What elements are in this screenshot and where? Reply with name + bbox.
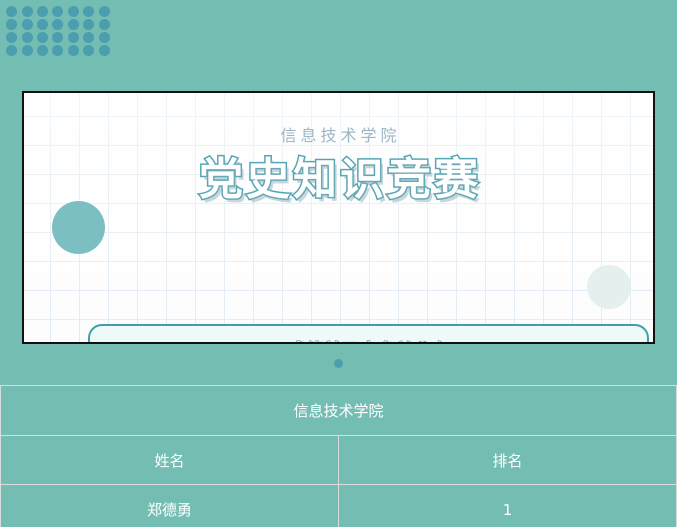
circle-decoration-right — [587, 265, 631, 309]
pager-dot-active[interactable] — [334, 359, 343, 368]
table-column-header-row: 姓名 排名 — [1, 436, 677, 485]
grid-dot — [37, 19, 48, 30]
grid-dot — [99, 6, 110, 17]
circle-decoration-left — [52, 201, 105, 254]
table-group-header-cell: 信息技术学院 — [1, 386, 677, 436]
poster-card: 信息技术学院 党史知识竞赛 成绩前三十名单公布 — [22, 91, 655, 344]
dot-grid-decoration — [4, 5, 112, 57]
poster-stage: 信息技术学院 党史知识竞赛 成绩前三十名单公布 — [0, 0, 677, 527]
grid-dot — [6, 19, 17, 30]
grid-dot — [68, 32, 79, 43]
grid-dot — [6, 32, 17, 43]
subtitle-banner: 成绩前三十名单公布 — [88, 324, 649, 344]
grid-dot — [37, 32, 48, 43]
page-title: 党史知识竞赛 — [24, 156, 653, 204]
grid-dot — [22, 19, 33, 30]
grid-dot — [22, 45, 33, 56]
grid-dot — [83, 45, 94, 56]
grid-dot — [52, 19, 63, 30]
card-kicker: 信息技术学院 — [24, 122, 653, 146]
grid-dot — [99, 45, 110, 56]
grid-dot — [99, 19, 110, 30]
grid-dot — [22, 6, 33, 17]
grid-dot — [52, 6, 63, 17]
grid-dot — [68, 19, 79, 30]
column-header-rank: 排名 — [339, 436, 677, 485]
table-group-header-row: 信息技术学院 — [1, 386, 677, 436]
column-header-name: 姓名 — [1, 436, 339, 485]
grid-dot — [83, 6, 94, 17]
cell-name: 郑德勇 — [1, 485, 339, 527]
grid-dot — [52, 32, 63, 43]
results-table: 信息技术学院 姓名 排名 郑德勇 1 — [0, 385, 677, 527]
grid-dot — [99, 32, 110, 43]
cell-rank: 1 — [339, 485, 677, 527]
card-heading-block: 信息技术学院 党史知识竞赛 — [24, 122, 653, 204]
grid-dot — [52, 45, 63, 56]
grid-dot — [83, 32, 94, 43]
grid-dot — [22, 32, 33, 43]
carousel-pager[interactable] — [0, 359, 677, 368]
grid-dot — [6, 6, 17, 17]
table-row: 郑德勇 1 — [1, 485, 677, 527]
grid-dot — [68, 6, 79, 17]
grid-dot — [37, 45, 48, 56]
grid-dot — [68, 45, 79, 56]
grid-dot — [83, 19, 94, 30]
grid-dot — [6, 45, 17, 56]
subtitle-banner-label: 成绩前三十名单公布 — [286, 336, 450, 344]
grid-dot — [37, 6, 48, 17]
